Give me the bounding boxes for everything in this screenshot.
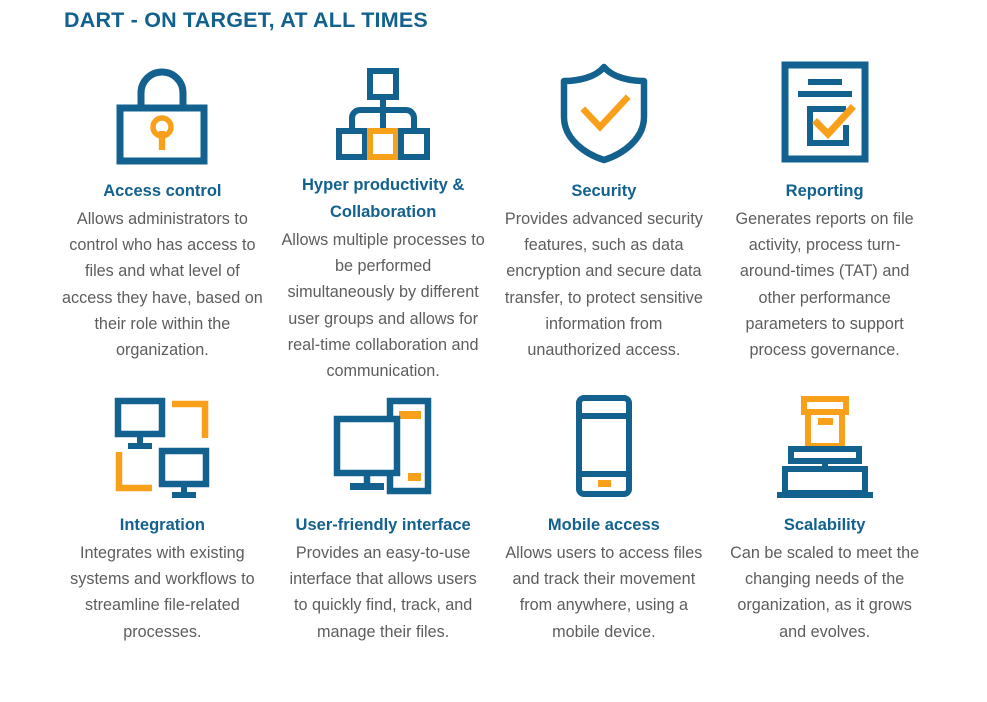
feature-title: Scalability	[784, 512, 866, 539]
mobile-phone-icon	[573, 390, 635, 502]
feature-card-user-friendly-interface: User-friendly interface Provides an easy…	[273, 384, 494, 674]
feature-title: Reporting	[786, 178, 864, 205]
feature-title: User-friendly interface	[296, 512, 471, 539]
feature-description: Allows administrators to control who has…	[60, 206, 265, 363]
feature-description: Generates reports on file activity, proc…	[722, 206, 927, 363]
desktop-computer-icon	[328, 390, 438, 502]
feature-card-security: Security Provides advanced security feat…	[494, 50, 715, 384]
two-monitors-network-icon	[110, 390, 214, 502]
infographic-page: DART - ON TARGET, AT ALL TIMES Access co…	[0, 0, 987, 702]
feature-row-top: Access control Allows administrators to …	[52, 50, 935, 384]
feature-description: Can be scaled to meet the changing needs…	[722, 540, 927, 645]
feature-description: Allows users to access files and track t…	[502, 540, 707, 645]
feature-description: Provides advanced security features, suc…	[502, 206, 707, 363]
feature-title: Access control	[103, 178, 221, 205]
shield-check-icon	[555, 56, 653, 168]
feature-row-bottom: Integration Integrates with existing sys…	[52, 384, 935, 674]
feature-card-integration: Integration Integrates with existing sys…	[52, 384, 273, 674]
feature-grid: Access control Allows administrators to …	[52, 50, 935, 674]
hierarchy-icon	[330, 56, 436, 162]
weighing-scale-box-icon	[773, 390, 877, 502]
feature-card-hyper-productivity: Hyper productivity & Collaboration Allow…	[273, 50, 494, 384]
feature-title: Mobile access	[548, 512, 660, 539]
feature-description: Integrates with existing systems and wor…	[60, 540, 265, 645]
feature-card-mobile-access: Mobile access Allows users to access fil…	[494, 384, 715, 674]
report-document-icon	[779, 56, 871, 168]
feature-title: Hyper productivity & Collaboration	[281, 172, 486, 226]
feature-card-access-control: Access control Allows administrators to …	[52, 50, 273, 384]
padlock-icon	[110, 56, 214, 168]
feature-description: Provides an easy-to-use interface that a…	[281, 540, 486, 645]
page-title: DART - ON TARGET, AT ALL TIMES	[64, 8, 428, 33]
feature-card-reporting: Reporting Generates reports on file acti…	[714, 50, 935, 384]
feature-title: Integration	[120, 512, 205, 539]
feature-description: Allows multiple processes to be performe…	[281, 227, 486, 384]
feature-card-scalability: Scalability Can be scaled to meet the ch…	[714, 384, 935, 674]
feature-title: Security	[571, 178, 636, 205]
